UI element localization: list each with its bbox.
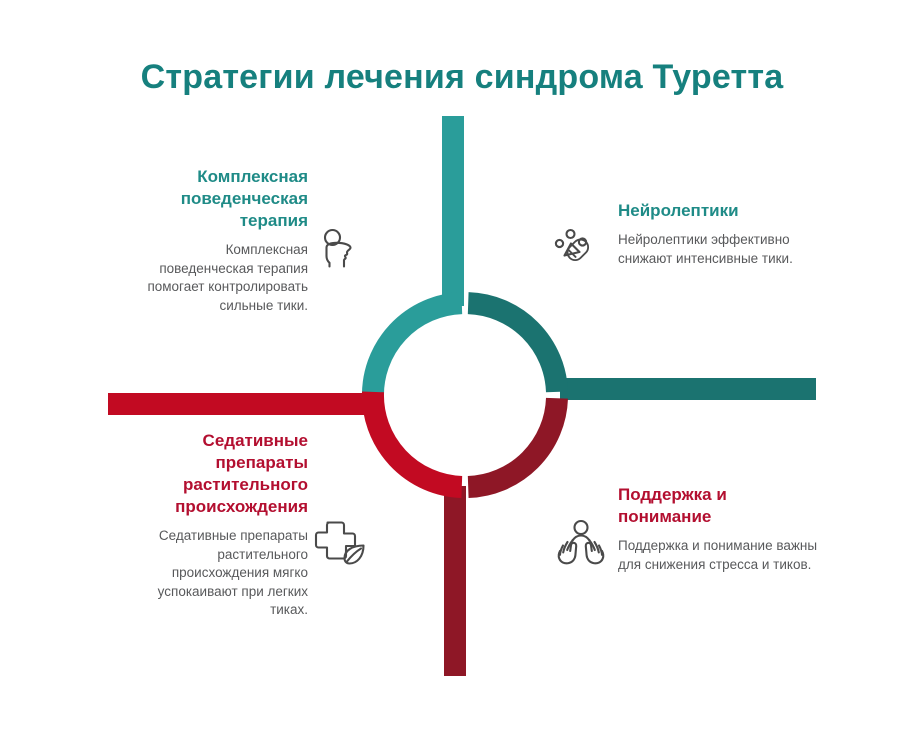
supporting-hands-icon: [556, 518, 606, 566]
stem-right: [560, 378, 816, 400]
segment-body-cbt: Комплексная поведенческая терапия помога…: [136, 241, 308, 315]
segment-body-support: Поддержка и понимание важны для снижения…: [618, 537, 824, 574]
stem-left: [108, 393, 368, 415]
arc-bottom-left: [373, 392, 462, 487]
segment-block-support: Поддержка и понимание Поддержка и понима…: [618, 484, 824, 574]
segment-block-cbt: Комплексная поведенческая терапия Компле…: [136, 166, 308, 315]
segment-heading-neuroleptics: Нейролептики: [618, 200, 814, 222]
pills-icon: [552, 226, 600, 274]
arc-top-left: [373, 303, 462, 398]
segment-body-sedatives: Седативные препараты растительного проис…: [126, 527, 308, 620]
segment-heading-cbt: Комплексная поведенческая терапия: [136, 166, 308, 232]
arc-bottom-right: [468, 398, 557, 487]
segment-block-neuroleptics: Нейролептики Нейролептики эффективно сни…: [618, 200, 814, 268]
segment-heading-sedatives: Седативные препараты растительного проис…: [126, 430, 308, 518]
segment-body-neuroleptics: Нейролептики эффективно снижают интенсив…: [618, 231, 814, 268]
stem-down: [444, 486, 466, 676]
circular-hub-diagram: [0, 0, 924, 732]
infographic-canvas: Стратегии лечения синдрома Туретта Компл…: [0, 0, 924, 732]
stem-up: [442, 116, 464, 306]
arc-top-right: [468, 303, 557, 392]
person-head-icon: [316, 226, 362, 272]
segment-heading-support: Поддержка и понимание: [618, 484, 824, 528]
segment-block-sedatives: Седативные препараты растительного проис…: [126, 430, 308, 620]
medical-cross-leaf-icon: [312, 518, 368, 570]
